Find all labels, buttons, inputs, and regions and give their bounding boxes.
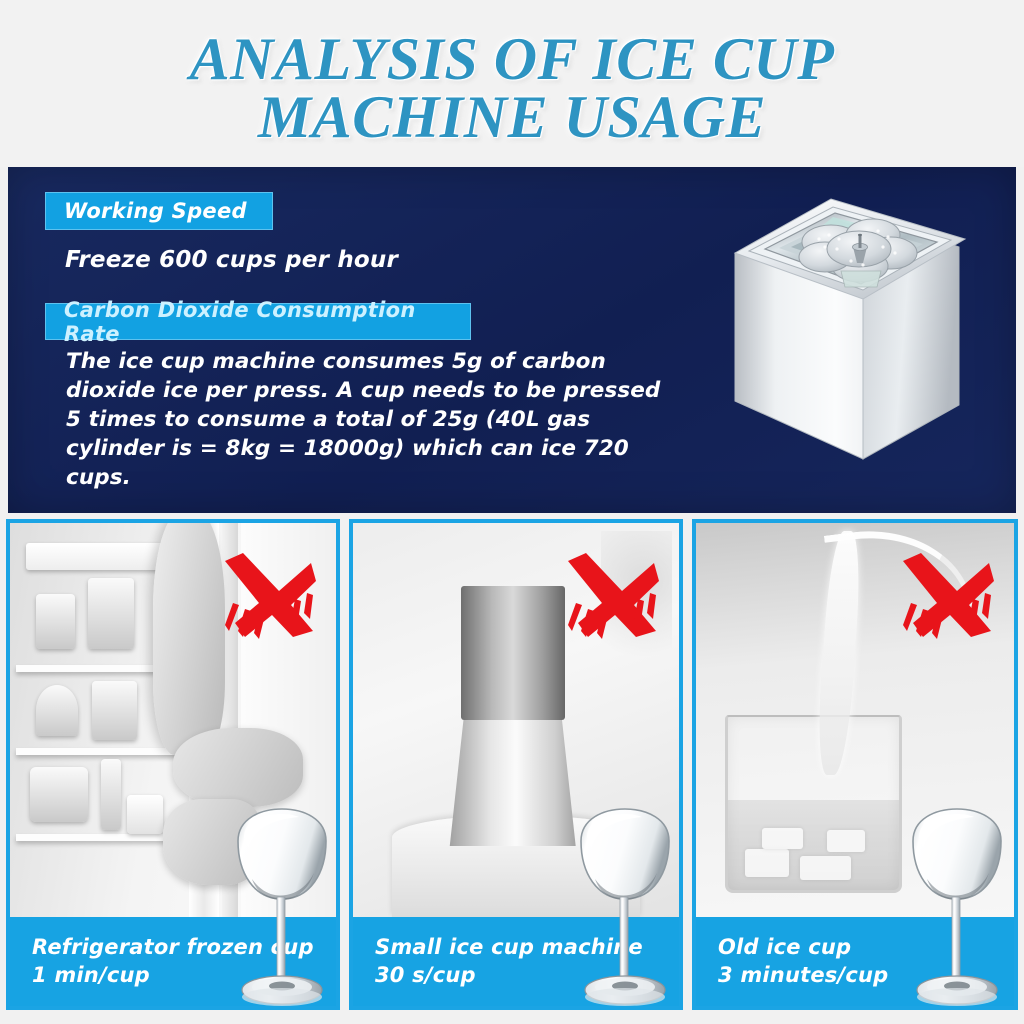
comparison-panel-refrigerator: Refrigerator frozen cup 1 min/cup	[6, 519, 340, 1010]
co2-consumption-paragraph: The ice cup machine consumes 5g of carbo…	[66, 347, 678, 492]
co2-consumption-label-text: Carbon Dioxide Consumption Rate	[64, 298, 470, 346]
header-banner: ANALYSIS OF ICE CUP MACHINE USAGE	[0, 0, 1024, 167]
refrigerator-frozen-cup-photo	[10, 523, 336, 917]
caption-line-2: 30 s/cup	[375, 961, 679, 989]
red-x-icon	[558, 547, 663, 642]
page-title: ANALYSIS OF ICE CUP MACHINE USAGE	[190, 30, 835, 146]
co2-consumption-label: Carbon Dioxide Consumption Rate	[45, 303, 471, 340]
infographic-root: ANALYSIS OF ICE CUP MACHINE USAGE Workin…	[0, 0, 1024, 1024]
specs-panel: Working Speed Freeze 600 cups per hour C…	[8, 167, 1016, 513]
working-speed-label-text: Working Speed	[64, 199, 247, 223]
caption-line-2: 3 minutes/cup	[718, 961, 1014, 989]
caption-line-2: 1 min/cup	[32, 961, 336, 989]
old-ice-cup-photo	[696, 523, 1014, 917]
working-speed-value: Freeze 600 cups per hour	[65, 247, 398, 273]
panel-caption-old-ice-cup: Old ice cup 3 minutes/cup	[696, 917, 1014, 1006]
red-x-icon	[893, 547, 998, 642]
comparison-panel-old-ice-cup: Old ice cup 3 minutes/cup	[692, 519, 1018, 1010]
caption-line-1: Refrigerator frozen cup	[32, 935, 314, 959]
small-ice-cup-machine-photo	[353, 523, 679, 917]
panel-caption-small-machine: Small ice cup machine 30 s/cup	[353, 917, 679, 1006]
comparison-panel-small-machine: Small ice cup machine 30 s/cup	[349, 519, 683, 1010]
red-x-icon	[215, 547, 320, 642]
caption-line-1: Small ice cup machine	[375, 935, 643, 959]
footer-strip	[0, 1012, 1024, 1024]
caption-line-1: Old ice cup	[718, 935, 851, 959]
panel-caption-refrigerator: Refrigerator frozen cup 1 min/cup	[10, 917, 336, 1006]
working-speed-label: Working Speed	[45, 192, 273, 230]
comparison-row: Refrigerator frozen cup 1 min/cup	[0, 519, 1024, 1012]
ice-cup-machine-image	[713, 187, 998, 487]
